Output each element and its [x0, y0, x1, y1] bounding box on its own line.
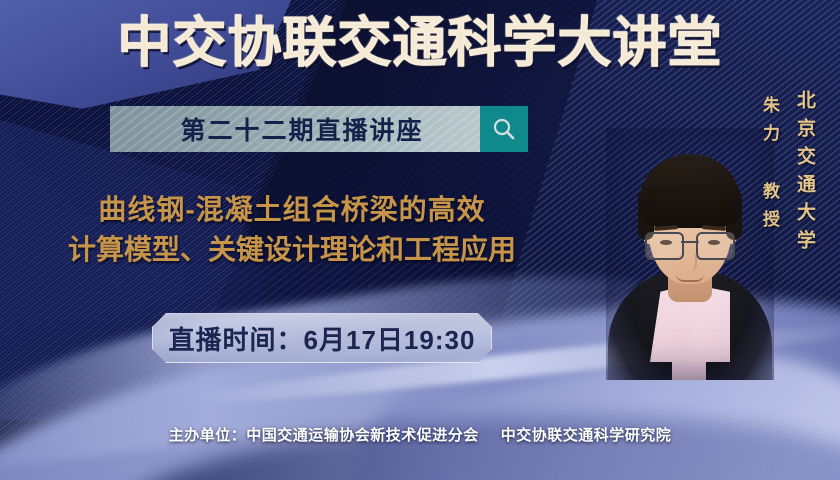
- speaker-affiliation: 北京交通大学: [791, 90, 818, 258]
- organizer-name-1: 中国交通运输协会新技术促进分会: [246, 427, 479, 444]
- speaker-portrait-illustration: [606, 128, 774, 380]
- search-icon: [491, 116, 517, 142]
- speaker-photo: [606, 128, 774, 380]
- episode-label: 第二十二期直播讲座: [166, 111, 423, 147]
- organizer-name-2: 中交协联交通科学研究院: [501, 427, 672, 444]
- episode-field: 第二十二期直播讲座: [110, 106, 480, 152]
- speaker-mouth: [676, 274, 704, 282]
- search-button[interactable]: [480, 106, 528, 152]
- speaker-nose: [685, 254, 697, 270]
- topic-line-2: 计算模型、关键设计理论和工程应用: [12, 230, 572, 270]
- speaker-name-title: 朱力 教授: [757, 96, 782, 238]
- live-lecture-poster: 中交协联交通科学大讲堂 第二十二期直播讲座 曲线钢-混凝土组合桥梁的高效 计算模…: [0, 0, 840, 480]
- page-title: 中交协联交通科学大讲堂: [0, 16, 840, 70]
- lecture-topic: 曲线钢-混凝土组合桥梁的高效 计算模型、关键设计理论和工程应用: [12, 190, 572, 270]
- organizer-prefix: 主办单位：: [169, 427, 247, 444]
- live-time-badge: 直播时间：6月17日19:30: [152, 313, 492, 363]
- live-time-text: 直播时间：6月17日19:30: [169, 320, 476, 357]
- episode-bar: 第二十二期直播讲座: [110, 106, 528, 152]
- organizer-footer: 主办单位：中国交通运输协会新技术促进分会中交协联交通科学研究院: [0, 424, 840, 445]
- topic-line-1: 曲线钢-混凝土组合桥梁的高效: [98, 194, 485, 225]
- glasses-lens-right: [696, 232, 735, 260]
- glasses-lens-left: [645, 232, 684, 260]
